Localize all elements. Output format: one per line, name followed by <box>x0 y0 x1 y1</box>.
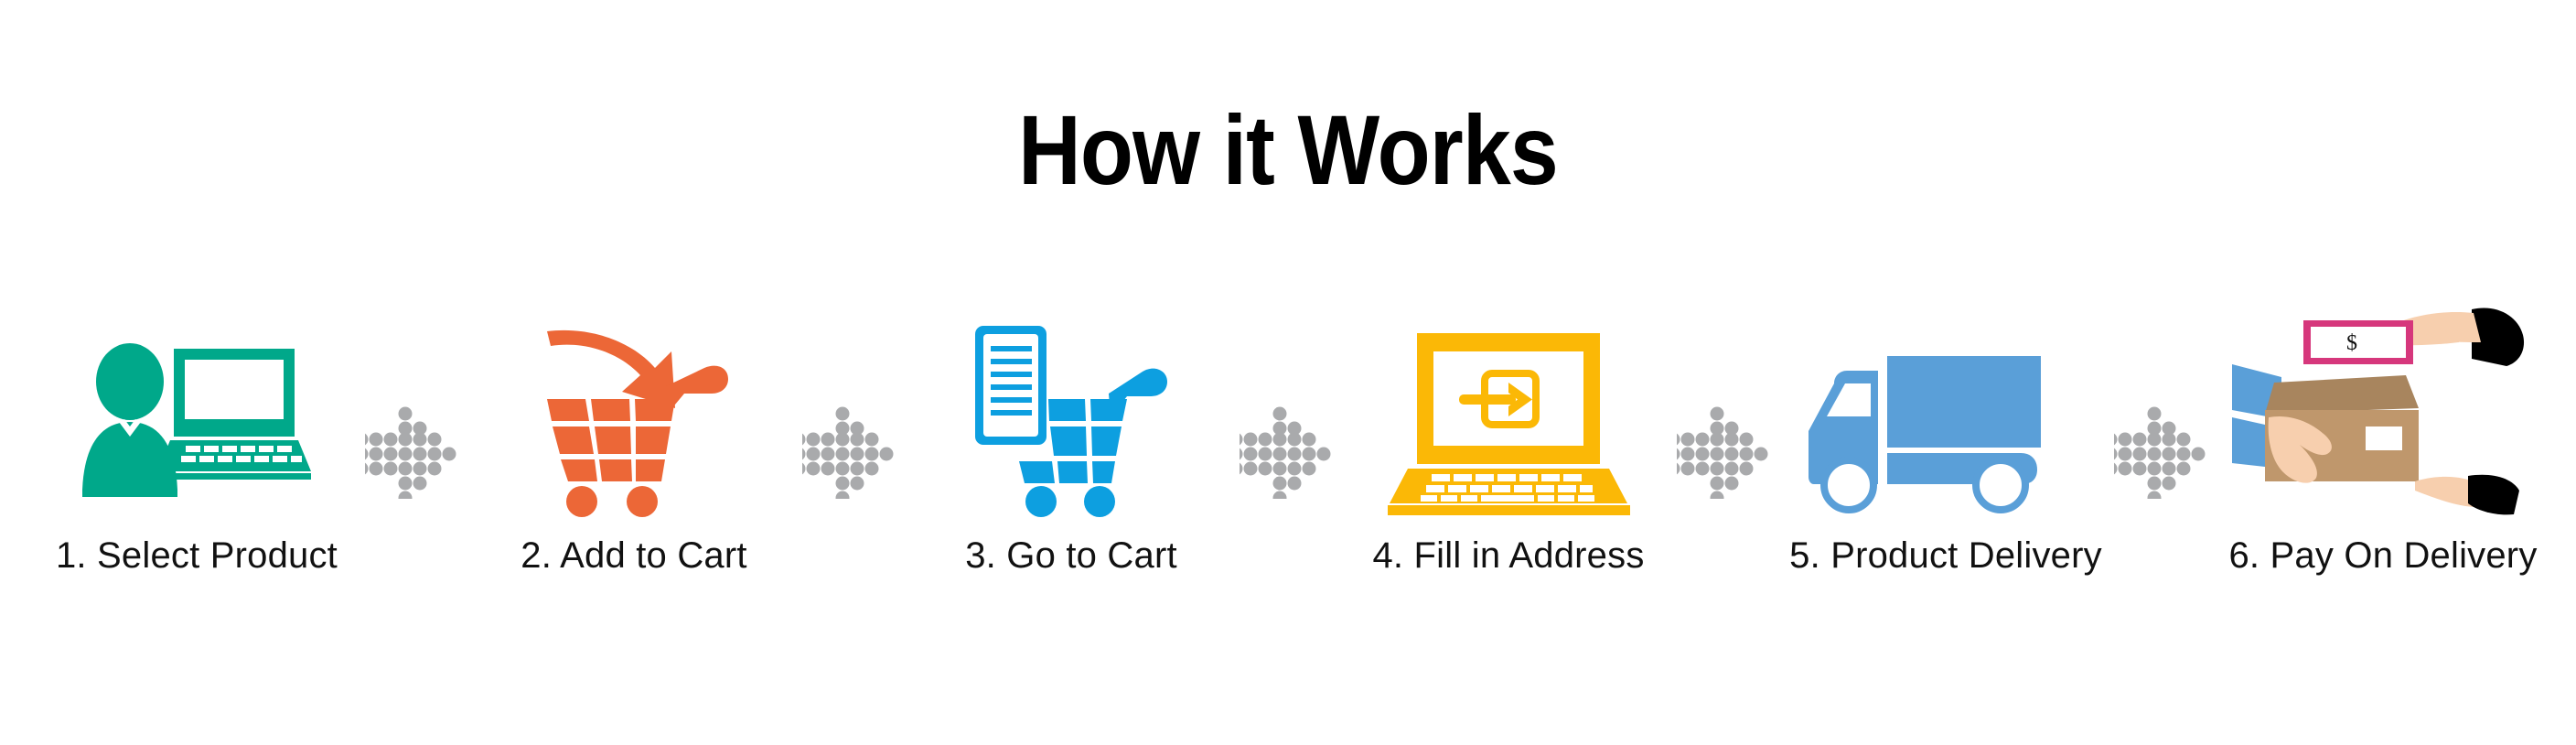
step-3-label: 3. Go to Cart <box>965 535 1177 576</box>
laptop-login-icon <box>1388 329 1630 517</box>
step-6-label: 6. Pay On Delivery <box>2228 535 2537 576</box>
dotted-arrow-right-icon <box>365 398 466 499</box>
step-3-go-to-cart[interactable]: 3. Go to Cart <box>911 302 1231 668</box>
step-2-icon-area <box>474 302 794 517</box>
page-title: How it Works <box>155 101 2421 200</box>
dollar-symbol: $ <box>2346 331 2357 355</box>
step-1-label: 1. Select Product <box>56 535 338 576</box>
step-3-icon-area <box>911 302 1231 517</box>
step-1-select-product[interactable]: 1. Select Product <box>37 302 357 668</box>
separator-4 <box>1677 302 1777 668</box>
delivery-truck-icon <box>1809 343 2083 517</box>
step-2-add-to-cart[interactable]: 2. Add to Cart <box>474 302 794 668</box>
step-5-icon-area <box>1786 302 2106 517</box>
step-4-icon-area <box>1348 302 1669 517</box>
step-6-pay-on-delivery[interactable]: $ 6. Pay <box>2223 302 2543 668</box>
step-5-product-delivery[interactable]: 5. Product Delivery <box>1786 302 2106 668</box>
steps-row: 1. Select Product <box>37 302 2543 686</box>
document-cart-icon <box>973 320 1170 517</box>
separator-5 <box>2114 302 2215 668</box>
dotted-arrow-right-icon <box>802 398 903 499</box>
infographic-page: How it Works <box>0 0 2576 745</box>
step-4-fill-in-address[interactable]: 4. Fill in Address <box>1348 302 1669 668</box>
dotted-arrow-right-icon <box>1240 398 1340 499</box>
separator-2 <box>802 302 903 668</box>
dotted-arrow-right-icon <box>2114 398 2215 499</box>
separator-3 <box>1240 302 1340 668</box>
hands-box-cash-icon: $ <box>2232 302 2534 517</box>
cart-arrow-icon <box>538 320 730 517</box>
separator-1 <box>365 302 466 668</box>
step-1-icon-area <box>37 302 357 517</box>
step-5-label: 5. Product Delivery <box>1789 535 2102 576</box>
person-laptop-icon <box>82 334 311 517</box>
step-6-icon-area: $ <box>2223 302 2543 517</box>
dotted-arrow-right-icon <box>1677 398 1777 499</box>
step-2-label: 2. Add to Cart <box>521 535 746 576</box>
step-4-label: 4. Fill in Address <box>1372 535 1644 576</box>
